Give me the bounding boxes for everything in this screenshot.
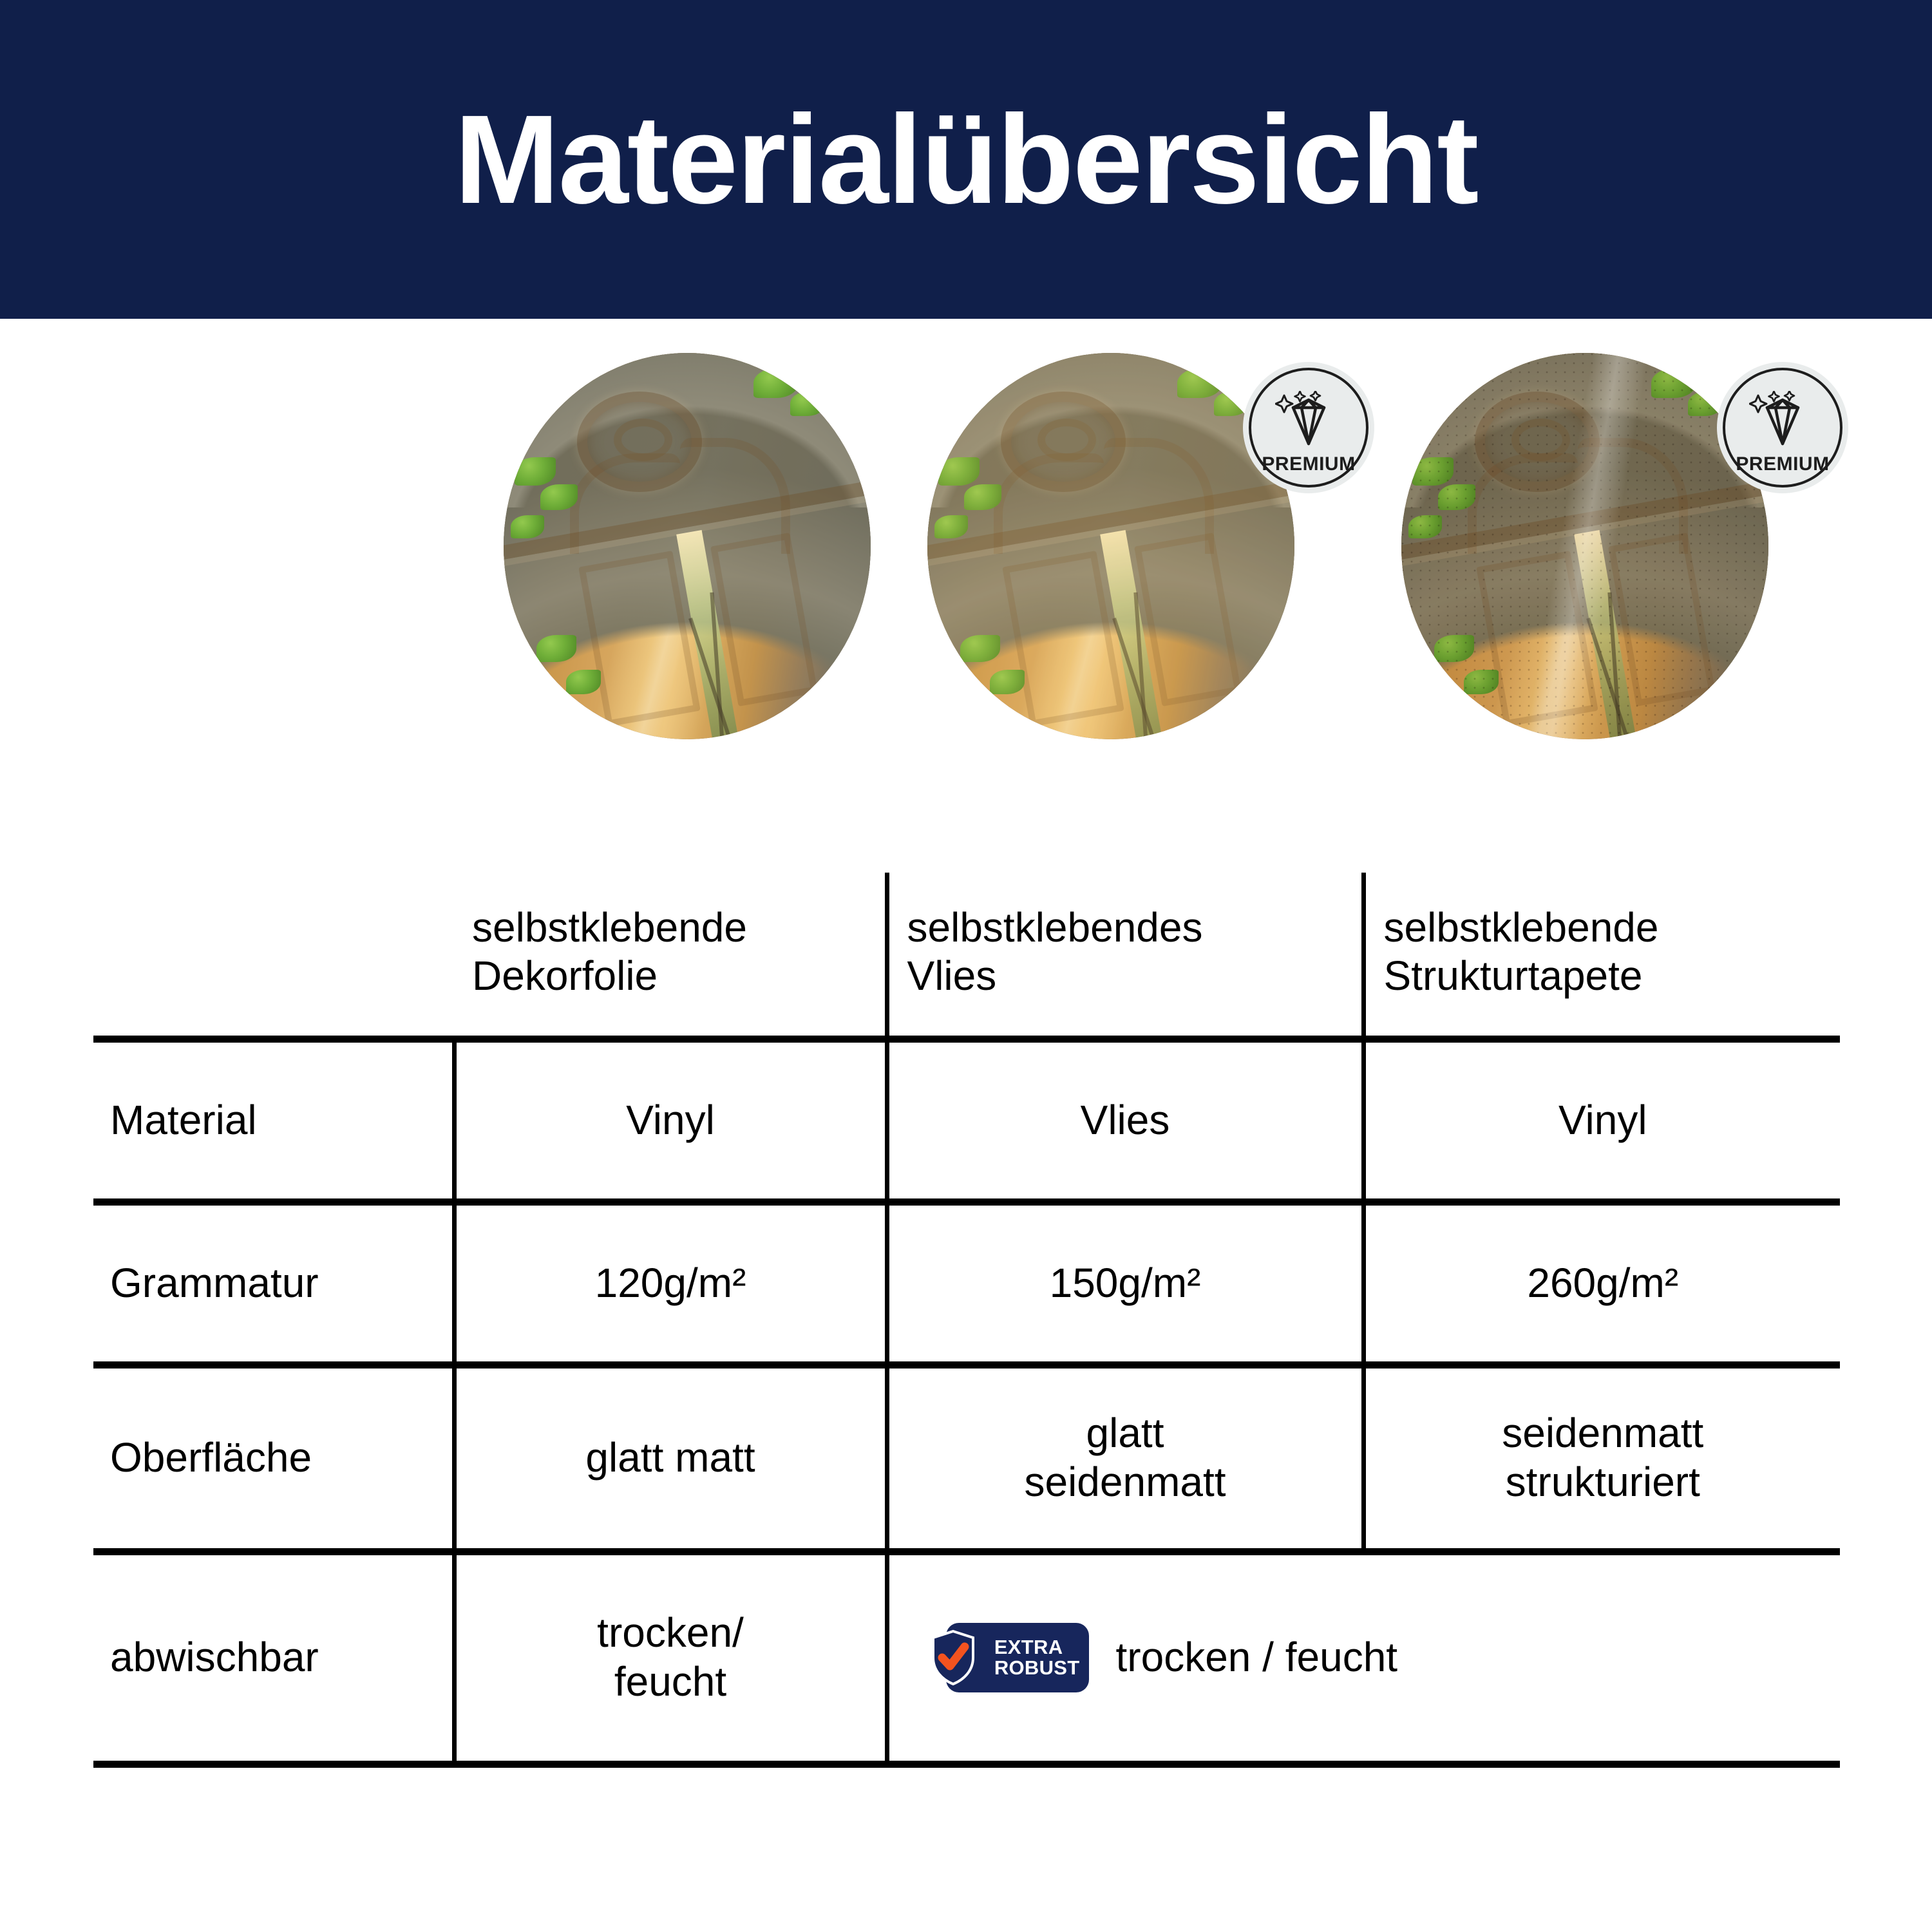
- cell-material-vlies: Vlies: [887, 1039, 1363, 1202]
- table-row-oberflaeche: Oberfläche glatt matt glatt seidenmatt s…: [93, 1365, 1840, 1551]
- table-row-abwischbar: abwischbar trocken/ feucht EXTRA: [93, 1551, 1840, 1764]
- table-row-material: Material Vinyl Vlies Vinyl: [93, 1039, 1840, 1202]
- cell-line-1: glatt matt: [468, 1434, 873, 1482]
- header-line-2: Dekorfolie: [472, 952, 873, 1001]
- cell-abwischbar-value: trocken / feucht: [1116, 1633, 1398, 1682]
- product-image-strukturtapete: [1401, 353, 1768, 739]
- cell-oberflaeche-vlies: glatt seidenmatt: [887, 1365, 1363, 1551]
- cell-line-2: feucht: [468, 1658, 873, 1707]
- page-title: Materialübersicht: [455, 97, 1478, 223]
- extra-robust-line-2: ROBUST: [994, 1658, 1080, 1678]
- swatch-dekorfolie[interactable]: [504, 353, 871, 739]
- material-comparison-table: selbstklebende Dekorfolie selbstklebende…: [93, 873, 1840, 1768]
- header-cell-dekorfolie: selbstklebende Dekorfolie: [454, 873, 887, 1039]
- cell-line-2: strukturiert: [1378, 1458, 1829, 1507]
- cell-grammatur-vlies: 150g/m²: [887, 1202, 1363, 1365]
- header-line-1: selbstklebende: [472, 904, 873, 952]
- swatch-strukturtapete[interactable]: [1401, 353, 1768, 739]
- premium-badge-vlies: PREMIUM: [1243, 362, 1374, 493]
- cell-line-1: trocken/: [468, 1609, 873, 1658]
- table-header-row: selbstklebende Dekorfolie selbstklebende…: [93, 873, 1840, 1039]
- material-overview-page: Materialübersicht: [0, 0, 1932, 1932]
- header-line-1: selbstklebende: [1384, 904, 1829, 952]
- row-label-material: Material: [93, 1039, 454, 1202]
- cell-abwischbar-vlies-strukturtapete: EXTRA ROBUST trocken / feucht: [887, 1551, 1840, 1764]
- header-cell-blank: [93, 873, 454, 1039]
- cell-material-dekorfolie: Vinyl: [454, 1039, 887, 1202]
- header-band: Materialübersicht: [0, 0, 1932, 319]
- product-image-dekorfolie: [504, 353, 871, 739]
- swatch-vlies[interactable]: [927, 353, 1294, 739]
- diamond-icon: [1749, 391, 1816, 453]
- product-image-vlies: [927, 353, 1294, 739]
- row-label-grammatur: Grammatur: [93, 1202, 454, 1365]
- extra-robust-line-1: EXTRA: [994, 1637, 1063, 1658]
- cell-grammatur-strukturtapete: 260g/m²: [1363, 1202, 1840, 1365]
- cell-material-strukturtapete: Vinyl: [1363, 1039, 1840, 1202]
- cell-line-2: seidenmatt: [901, 1458, 1350, 1507]
- cell-oberflaeche-dekorfolie: glatt matt: [454, 1365, 887, 1551]
- header-cell-strukturtapete: selbstklebende Strukturtapete: [1363, 873, 1840, 1039]
- table-row-grammatur: Grammatur 120g/m² 150g/m² 260g/m²: [93, 1202, 1840, 1365]
- cell-grammatur-dekorfolie: 120g/m²: [454, 1202, 887, 1365]
- extra-robust-badge: EXTRA ROBUST: [946, 1623, 1089, 1692]
- diamond-icon: [1275, 391, 1342, 453]
- cell-line-1: glatt: [901, 1409, 1350, 1458]
- header-line-1: selbstklebendes: [907, 904, 1350, 952]
- shield-check-icon: [931, 1629, 976, 1686]
- premium-badge-strukturtapete: PREMIUM: [1717, 362, 1848, 493]
- row-label-oberflaeche: Oberfläche: [93, 1365, 454, 1551]
- cell-oberflaeche-strukturtapete: seidenmatt strukturiert: [1363, 1365, 1840, 1551]
- row-label-abwischbar: abwischbar: [93, 1551, 454, 1764]
- cell-line-1: seidenmatt: [1378, 1409, 1829, 1458]
- header-line-2: Strukturtapete: [1384, 952, 1829, 1001]
- header-cell-vlies: selbstklebendes Vlies: [887, 873, 1363, 1039]
- cell-abwischbar-dekorfolie: trocken/ feucht: [454, 1551, 887, 1764]
- header-line-2: Vlies: [907, 952, 1350, 1001]
